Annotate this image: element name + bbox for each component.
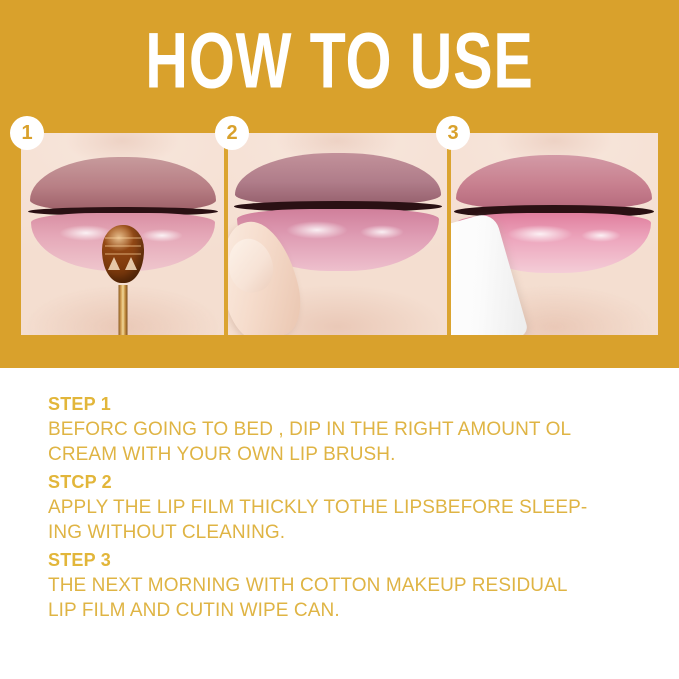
- instruction-step-3: STEP 3 THE NEXT MORNING WITH COTTON MAKE…: [48, 548, 648, 623]
- fingernail: [228, 234, 278, 297]
- applicator-bulb: [102, 225, 144, 283]
- step-badge-1: 1: [10, 116, 44, 150]
- step-2-body: APPLY THE LIP FILM THICKLY TOTHE LIPSBEF…: [48, 495, 648, 545]
- step-badge-2: 2: [215, 116, 249, 150]
- instruction-step-1: STEP 1 BEFORC GOING TO BED , DIP IN THE …: [48, 392, 648, 467]
- step-photo-2: [228, 133, 446, 335]
- step-1-body: BEFORC GOING TO BED , DIP IN THE RIGHT A…: [48, 417, 648, 467]
- instruction-step-2: STCP 2 APPLY THE LIP FILM THICKLY TOTHE …: [48, 470, 648, 545]
- step-1-heading: STEP 1: [48, 392, 648, 417]
- photo-strip: [21, 133, 658, 335]
- page-title: HOW TO USE: [68, 22, 611, 100]
- instructions-list: STEP 1 BEFORC GOING TO BED , DIP IN THE …: [48, 392, 648, 626]
- step-photo-1: [21, 133, 224, 335]
- step-3-body: THE NEXT MORNING WITH COTTON MAKEUP RESI…: [48, 573, 648, 623]
- step-photo-3: [451, 133, 658, 335]
- step-3-heading: STEP 3: [48, 548, 648, 573]
- applicator-handle: [118, 285, 127, 335]
- step-badge-3: 3: [436, 116, 470, 150]
- step-2-heading: STCP 2: [48, 470, 648, 495]
